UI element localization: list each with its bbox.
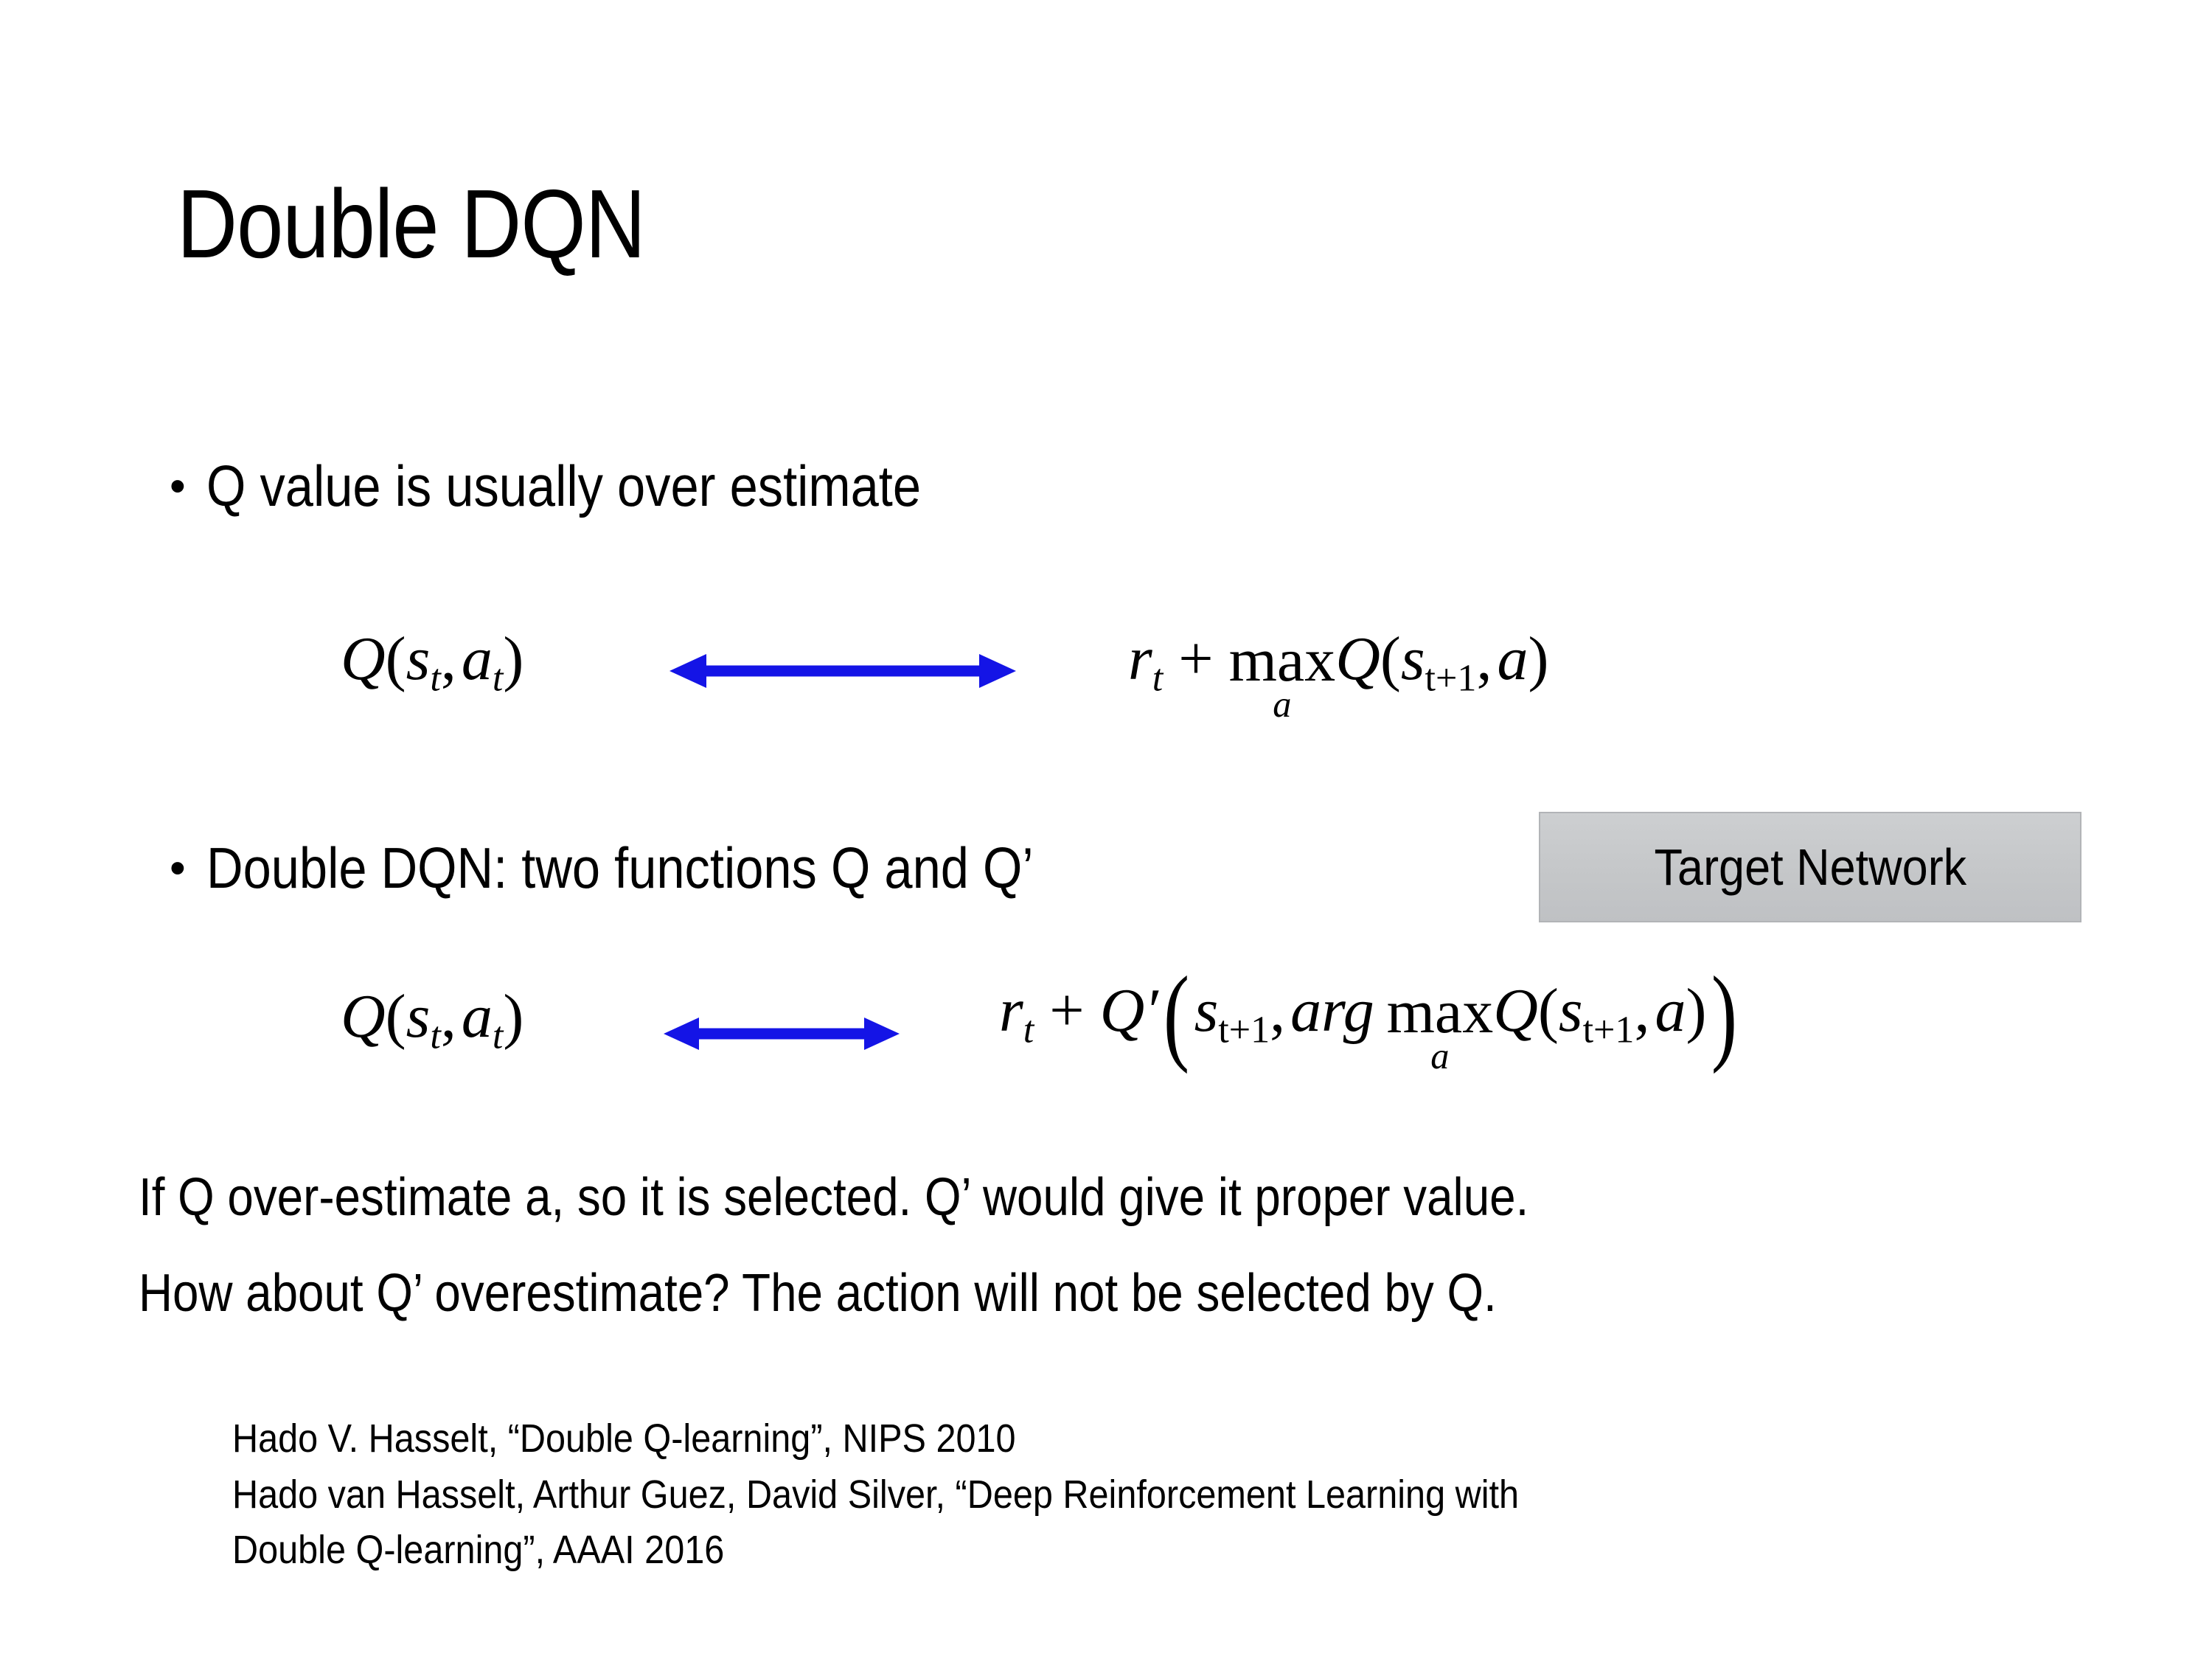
eq1-rhs-open-paren: ( xyxy=(1380,625,1401,693)
bullet-marker-icon: • xyxy=(170,464,186,509)
page-title: Double DQN xyxy=(177,175,645,273)
eq1-rhs-plus: + xyxy=(1178,625,1213,693)
eq1-rhs-state: s xyxy=(1401,625,1425,693)
eq1-lhs-close-paren: ) xyxy=(503,625,524,693)
eq2-lhs-action-sub: t xyxy=(493,1015,503,1057)
eq2-rhs-state-sub-text: t+1 xyxy=(1218,1009,1270,1051)
bidirectional-arrow-2 xyxy=(664,1012,900,1060)
equation-1-lhs: Q(st, at) xyxy=(341,623,524,700)
citation-block: Hado V. Hasselt, “Double Q-learning”, NI… xyxy=(232,1411,1662,1579)
eq1-rhs-state-sub-text: t+1 xyxy=(1425,658,1477,700)
eq1-lhs-state-sub: t xyxy=(430,658,440,700)
eq2-rhs-inner-close-paren: ) xyxy=(1686,976,1706,1045)
eq1-rhs-reward-sub: t xyxy=(1152,658,1163,700)
eq2-rhs-comma-1: , xyxy=(1270,976,1285,1045)
eq2-rhs-inner-open-paren: ( xyxy=(1538,976,1559,1045)
eq1-rhs-max-operator: maxa xyxy=(1229,631,1336,723)
bullet-label-1: Q value is usually over estimate xyxy=(206,457,921,515)
bullet-item-1: • Q value is usually over estimate xyxy=(170,457,1018,515)
slide-canvas: Double DQN • Q value is usually over est… xyxy=(0,0,2212,1659)
eq1-rhs-max-label: max xyxy=(1229,631,1336,691)
eq2-rhs-plus: + xyxy=(1049,976,1084,1045)
eq1-lhs-fn: Q xyxy=(341,625,386,693)
eq1-rhs-reward: r xyxy=(1128,625,1152,693)
eq1-lhs-state: s xyxy=(406,625,431,693)
bullet-marker-icon: • xyxy=(170,846,186,891)
eq2-rhs-state-sub: t+1 xyxy=(1218,1009,1270,1051)
eq2-rhs-inner-action: a xyxy=(1655,976,1686,1045)
eq2-lhs-state: s xyxy=(406,982,431,1051)
eq1-rhs-comma: , xyxy=(1476,625,1492,693)
eq2-lhs-open-paren: ( xyxy=(386,982,406,1051)
explanation-line-1: If Q over-estimate a, so it is selected.… xyxy=(139,1171,1528,1224)
target-network-label: Target Network xyxy=(1654,841,1966,893)
explanation-line-2: How about Q’ overestimate? The action wi… xyxy=(139,1267,1497,1320)
eq2-rhs-inner-state: s xyxy=(1559,976,1583,1045)
eq2-lhs-fn: Q xyxy=(341,982,386,1051)
eq2-rhs-reward-sub: t xyxy=(1023,1009,1034,1051)
eq1-rhs-close-paren: ) xyxy=(1528,625,1548,693)
eq2-lhs-action: a xyxy=(462,982,493,1051)
eq2-lhs-close-paren: ) xyxy=(503,982,524,1051)
equation-2-rhs: rt + Q′(st+1, arg maxaQ(st+1, a)) xyxy=(999,975,1742,1073)
eq2-rhs-comma-2: , xyxy=(1634,976,1649,1045)
eq1-rhs-max-limit: a xyxy=(1273,686,1291,722)
eq2-rhs-state: s xyxy=(1194,976,1219,1045)
eq1-rhs-fn: Q xyxy=(1335,625,1380,693)
eq1-lhs-comma: , xyxy=(441,625,456,693)
arrow-1-svg xyxy=(669,649,1016,693)
eq2-rhs-target-fn: Q′ xyxy=(1100,976,1158,1045)
eq2-lhs-comma: , xyxy=(441,982,456,1051)
eq2-lhs-state-sub: t xyxy=(430,1015,440,1057)
bullet-label-2: Double DQN: two functions Q and Q’ xyxy=(206,839,1034,897)
equation-2-lhs: Q(st, at) xyxy=(341,981,524,1058)
eq2-rhs-max-operator: maxa xyxy=(1387,983,1494,1074)
eq2-rhs-inner-state-sub: t+1 xyxy=(1583,1009,1635,1051)
eq1-lhs-action-sub: t xyxy=(493,658,503,700)
eq2-rhs-max-limit: a xyxy=(1430,1038,1449,1074)
citation-line-1: Hado V. Hasselt, “Double Q-learning”, NI… xyxy=(232,1411,1519,1467)
eq1-lhs-action: a xyxy=(462,625,493,693)
eq1-lhs-open-paren: ( xyxy=(386,625,406,693)
eq1-rhs-state-sub: t+1 xyxy=(1425,658,1477,700)
citation-line-2: Hado van Hasselt, Arthur Guez, David Sil… xyxy=(232,1467,1519,1523)
eq2-rhs-inner-state-sub-text: t+1 xyxy=(1583,1009,1635,1051)
citation-line-3: Double Q-learning”, AAAI 2016 xyxy=(232,1523,1519,1579)
bidirectional-arrow-1 xyxy=(669,649,1016,697)
eq2-rhs-inner-fn: Q xyxy=(1493,976,1538,1045)
equation-1-rhs: rt + maxaQ(st+1, a) xyxy=(1128,623,1548,721)
eq1-rhs-action: a xyxy=(1497,625,1528,693)
target-network-callout[interactable]: Target Network xyxy=(1539,812,2081,922)
bullet-item-2: • Double DQN: two functions Q and Q’ xyxy=(170,839,1146,897)
arrow-2-svg xyxy=(664,1012,900,1056)
eq2-rhs-max-label: max xyxy=(1387,983,1494,1043)
eq2-rhs-reward: r xyxy=(999,976,1023,1045)
eq2-rhs-arg-prefix: arg xyxy=(1290,976,1374,1045)
